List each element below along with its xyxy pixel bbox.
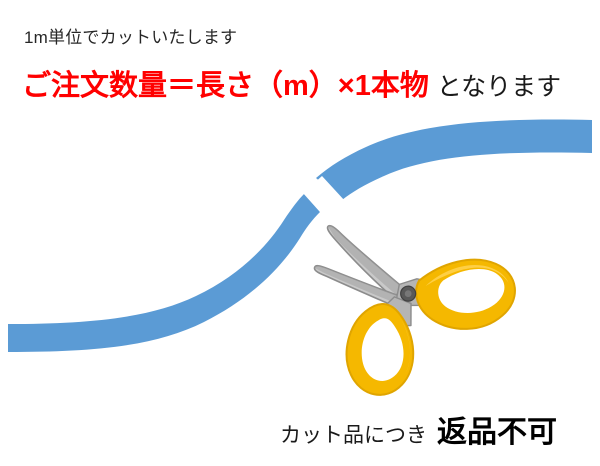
note-top-text: 1m単位でカットいたします <box>24 29 237 46</box>
ribbon-left-segment <box>8 194 320 352</box>
cut-service-notice-image: 1m単位でカットいたします ご注文数量＝長さ（m）×1本物となります カット品に… <box>0 0 600 466</box>
scissors-handle-right <box>414 256 518 333</box>
scissors-pivot-icon <box>400 286 416 302</box>
footer-small-text: カット品につき <box>280 424 427 447</box>
footer-notice: カット品につき返品不可 <box>280 418 557 448</box>
footer-big-text: 返品不可 <box>427 416 557 449</box>
headline: ご注文数量＝長さ（m）×1本物となります <box>22 72 561 101</box>
headline-emphasis: ご注文数量＝長さ（m）×1本物 <box>22 70 429 102</box>
ribbon-right-segment <box>316 120 592 200</box>
headline-tail: となります <box>429 73 561 101</box>
scissors <box>311 210 523 400</box>
